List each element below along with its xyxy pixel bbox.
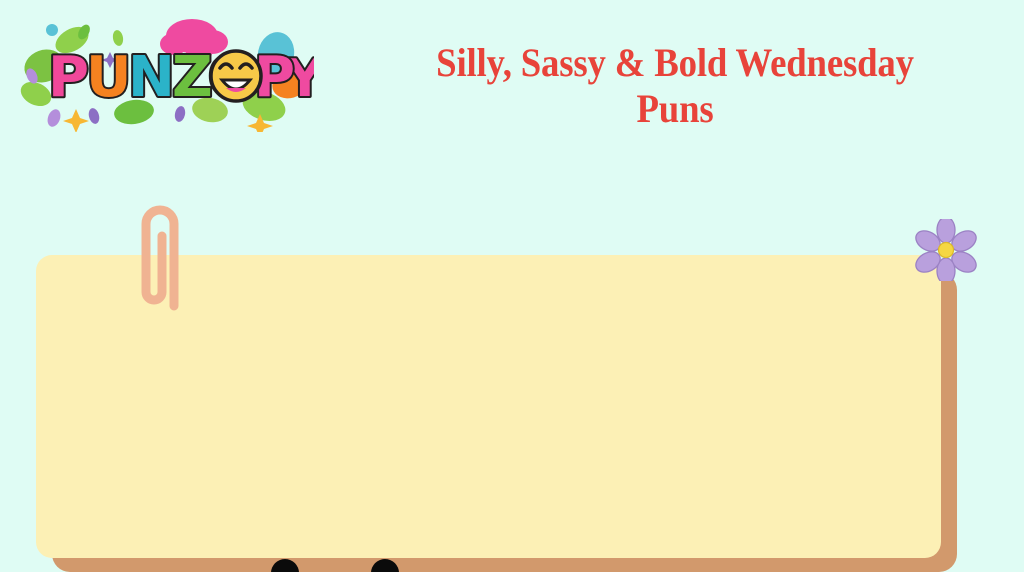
page-title: Silly, Sassy & Bold Wednesday Puns	[358, 40, 993, 132]
svg-text:P: P	[48, 45, 89, 110]
calendar-ring-right	[371, 559, 399, 572]
svg-text:U: U	[86, 45, 131, 110]
page-root: P U N Z C Y P P Silly, Sassy & Bold Wedn…	[0, 0, 1024, 572]
laughing-face-emoji	[211, 51, 261, 101]
paperclip-icon	[128, 196, 192, 314]
svg-text:N: N	[128, 45, 175, 110]
flower-icon	[915, 219, 977, 281]
punzcopy-logo[interactable]: P U N Z C Y P P	[14, 14, 314, 132]
calendar-icon: WEDNESDAY WED	[222, 555, 458, 572]
calendar-ring-left	[271, 559, 299, 572]
svg-text:Z: Z	[172, 45, 213, 110]
